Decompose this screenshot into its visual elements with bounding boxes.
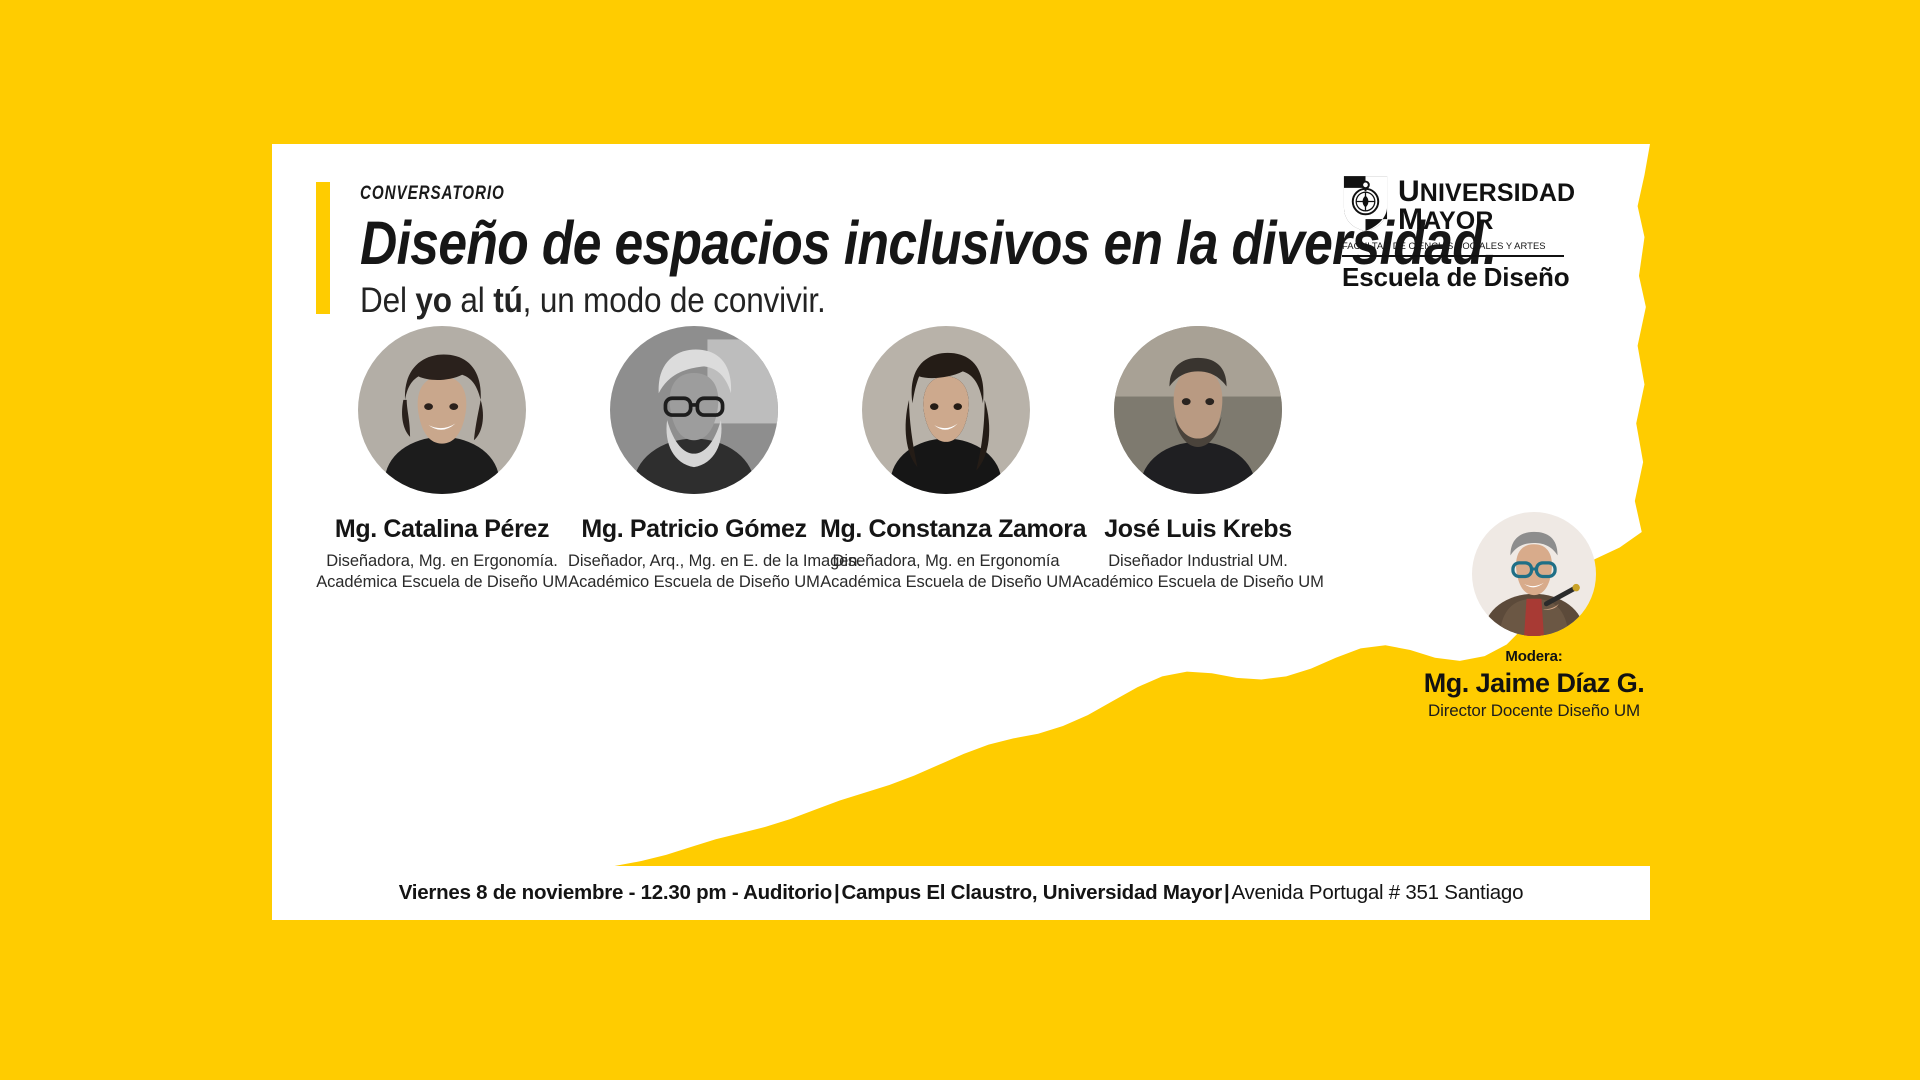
speaker-role-line2: Académica Escuela de Diseño UM <box>316 572 568 594</box>
logo-faculty-line: FACULTAD DE CIENCIAS SOCIALES Y ARTES <box>1342 241 1560 252</box>
subtitle-part-mid: al <box>452 281 493 320</box>
page-title: Diseño de espacios inclusivos en la dive… <box>360 212 1146 274</box>
logo-line-mayor: MAYOR <box>1398 206 1575 234</box>
portrait-constanza-zamora <box>862 326 1030 494</box>
speaker-card: José Luis Krebs Diseñador Industrial UM.… <box>1072 326 1324 594</box>
speaker-name: Mg. Constanza Zamora <box>820 516 1072 544</box>
speaker-card: Mg. Constanza Zamora Diseñadora, Mg. en … <box>820 326 1072 594</box>
subtitle-part-pre: Del <box>360 281 415 320</box>
speaker-role: Diseñadora, Mg. en Ergonomía Académica E… <box>820 551 1072 595</box>
speaker-card: Mg. Catalina Pérez Diseñadora, Mg. en Er… <box>316 326 568 594</box>
speaker-role-line1: Diseñador, Arq., Mg. en E. de la Imagen. <box>568 551 820 573</box>
portrait-catalina-perez <box>358 326 526 494</box>
event-info-text: Viernes 8 de noviembre - 12.30 pm - Audi… <box>399 881 1524 905</box>
moderator-label: Modera: <box>1418 648 1650 665</box>
event-info-bar: Viernes 8 de noviembre - 12.30 pm - Audi… <box>272 866 1650 920</box>
subtitle-emphasis-tu: tú <box>493 281 522 320</box>
speaker-role-line1: Diseñador Industrial UM. <box>1072 551 1324 573</box>
portrait-jaime-diaz <box>1472 512 1596 636</box>
speaker-name: Mg. Catalina Pérez <box>316 516 568 544</box>
subtitle-part-post: , un modo de convivir. <box>523 281 826 320</box>
subtitle-emphasis-yo: yo <box>415 281 451 320</box>
moderator-block: Modera: Mg. Jaime Díaz G. Director Docen… <box>1418 512 1650 721</box>
page-subtitle: Del yo al tú, un modo de convivir. <box>360 282 1197 321</box>
speaker-role-line1: Diseñadora, Mg. en Ergonomía. <box>316 551 568 573</box>
moderator-role: Director Docente Diseño UM <box>1418 701 1650 721</box>
speaker-role-line2: Académica Escuela de Diseño UM <box>820 572 1072 594</box>
event-campus: Campus El Claustro, Universidad Mayor <box>841 881 1222 904</box>
university-logo: UNIVERSIDAD MAYOR FACULTAD DE CIENCIAS S… <box>1342 174 1564 293</box>
shield-crest-icon <box>1342 174 1389 233</box>
portrait-jose-luis-krebs <box>1114 326 1282 494</box>
speaker-name: José Luis Krebs <box>1072 516 1324 544</box>
logo-divider <box>1342 255 1564 257</box>
logo-line-universidad: UNIVERSIDAD <box>1398 178 1575 206</box>
header-block: CONVERSATORIO Diseño de espacios inclusi… <box>360 184 1290 321</box>
event-address: Avenida Portugal # 351 Santiago <box>1231 881 1523 904</box>
speaker-role-line2: Académico Escuela de Diseño UM <box>1072 572 1324 594</box>
portrait-patricio-gomez <box>610 326 778 494</box>
event-datetime: Viernes 8 de noviembre - 12.30 pm - Audi… <box>399 881 832 904</box>
eyebrow-label: CONVERSATORIO <box>360 184 1104 205</box>
speaker-card: Mg. Patricio Gómez Diseñador, Arq., Mg. … <box>568 326 820 594</box>
speaker-role-line2: Académico Escuela de Diseño UM <box>568 572 820 594</box>
speaker-name: Mg. Patricio Gómez <box>568 516 820 544</box>
logo-school-line: Escuela de Diseño <box>1342 262 1564 293</box>
speaker-role: Diseñador, Arq., Mg. en E. de la Imagen.… <box>568 551 820 595</box>
speaker-role-line1: Diseñadora, Mg. en Ergonomía <box>820 551 1072 573</box>
speaker-role: Diseñador Industrial UM. Académico Escue… <box>1072 551 1324 595</box>
moderator-name: Mg. Jaime Díaz G. <box>1418 668 1650 699</box>
yellow-accent-bar <box>316 182 330 314</box>
speaker-role: Diseñadora, Mg. en Ergonomía. Académica … <box>316 551 568 595</box>
speakers-row: Mg. Catalina Pérez Diseñadora, Mg. en Er… <box>316 326 1326 594</box>
